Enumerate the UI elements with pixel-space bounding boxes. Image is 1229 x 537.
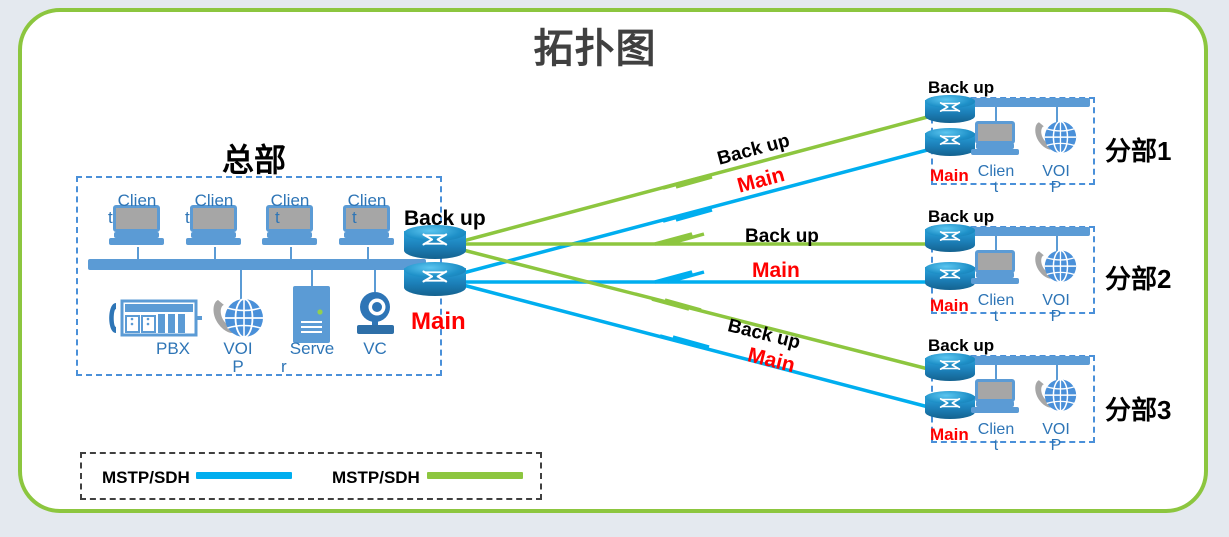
- branch-1-client-caption-cont: t: [970, 180, 1022, 196]
- branch-3-router-backup[interactable]: [925, 353, 975, 386]
- branch-1-router-main[interactable]: [925, 128, 975, 161]
- pbx-icon: [104, 297, 202, 339]
- link-label-branch2-backup: Back up: [745, 226, 819, 248]
- hq-router-main-label: Main: [411, 308, 466, 336]
- hq-drop-client-2: [214, 247, 216, 261]
- legend-swatch-main: [196, 472, 292, 479]
- laptop-icon: [975, 379, 1015, 413]
- branch-2-router-main-label: Main: [930, 296, 969, 316]
- hq-drop-client-4: [367, 247, 369, 261]
- globe-phone-icon: [1034, 376, 1077, 416]
- laptop-icon: [975, 250, 1015, 284]
- branch-1-voip-caption: VOI: [1031, 164, 1081, 180]
- legend-label-backup: MSTP/SDH: [332, 468, 420, 488]
- branch-2-voip-caption: VOI: [1031, 293, 1081, 309]
- branch-2-router-backup[interactable]: [925, 224, 975, 257]
- branch-1-router-backup[interactable]: [925, 95, 975, 128]
- branch-3-voip-caption-cont: P: [1031, 438, 1081, 454]
- branch-3-router-main[interactable]: [925, 391, 975, 424]
- hq-pbx-caption: PBX: [143, 340, 203, 357]
- topology-diagram: 拓扑图 Back: [0, 0, 1229, 537]
- headquarters-label: 总部: [222, 135, 286, 181]
- hq-router-main[interactable]: [404, 262, 466, 302]
- hq-client-3-caption-cont: t: [275, 209, 293, 226]
- link-label-branch2-main: Main: [752, 259, 800, 283]
- legend-label-main: MSTP/SDH: [102, 468, 190, 488]
- branch-2-client-caption-cont: t: [970, 309, 1022, 325]
- branch-3-client-caption: Clien: [970, 422, 1022, 438]
- hq-drop-client-3: [290, 247, 292, 261]
- branch-3-voip-caption: VOI: [1031, 422, 1081, 438]
- hq-client-1-caption-cont: t: [108, 209, 126, 226]
- hq-client-2-caption-cont: t: [185, 209, 203, 226]
- hq-drop-server: [311, 270, 313, 287]
- branch-2-label: 分部2: [1105, 259, 1171, 296]
- server-icon: [293, 286, 330, 343]
- branch-2-client-caption: Clien: [970, 293, 1022, 309]
- hq-server-caption-cont: r: [281, 358, 303, 375]
- hq-client-2-caption: Clien: [185, 192, 243, 209]
- branch-1-label: 分部1: [1105, 131, 1171, 168]
- globe-phone-icon: [1034, 118, 1077, 158]
- branch-3-client-caption-cont: t: [970, 438, 1022, 454]
- hq-voip-caption: VOI: [210, 340, 266, 357]
- branch-3-router-main-label: Main: [930, 425, 969, 445]
- hq-router-backup[interactable]: [404, 225, 466, 265]
- branch-1-drop-client: [995, 105, 997, 122]
- legend-swatch-backup: [427, 472, 523, 479]
- branch-2-voip-caption-cont: P: [1031, 309, 1081, 325]
- hq-client-4-caption-cont: t: [352, 209, 370, 226]
- hq-vc-caption: VC: [352, 340, 398, 357]
- globe-phone-icon: [1034, 247, 1077, 287]
- branch-1-router-main-label: Main: [930, 166, 969, 186]
- legend: MSTP/SDH MSTP/SDH: [80, 452, 542, 500]
- laptop-icon: [975, 121, 1015, 155]
- hq-client-3-caption: Clien: [261, 192, 319, 209]
- globe-phone-icon: [212, 296, 264, 342]
- branch-1-voip-caption-cont: P: [1031, 180, 1081, 196]
- branch-3-label: 分部3: [1105, 390, 1171, 427]
- hq-client-1-caption: Clien: [108, 192, 166, 209]
- branch-2-drop-client: [995, 234, 997, 251]
- page-title: 拓扑图: [0, 16, 1190, 74]
- branch-2-router-main[interactable]: [925, 262, 975, 295]
- video-camera-icon: [350, 290, 400, 338]
- branch-3-drop-client: [995, 363, 997, 380]
- hq-server-caption: Serve: [281, 340, 343, 357]
- branch-1-client-caption: Clien: [970, 164, 1022, 180]
- hq-drop-client-1: [137, 247, 139, 261]
- hq-client-4-caption: Clien: [338, 192, 396, 209]
- hq-voip-caption-cont: P: [210, 358, 266, 375]
- hq-drop-vc: [374, 270, 376, 292]
- hq-drop-voip: [240, 270, 242, 299]
